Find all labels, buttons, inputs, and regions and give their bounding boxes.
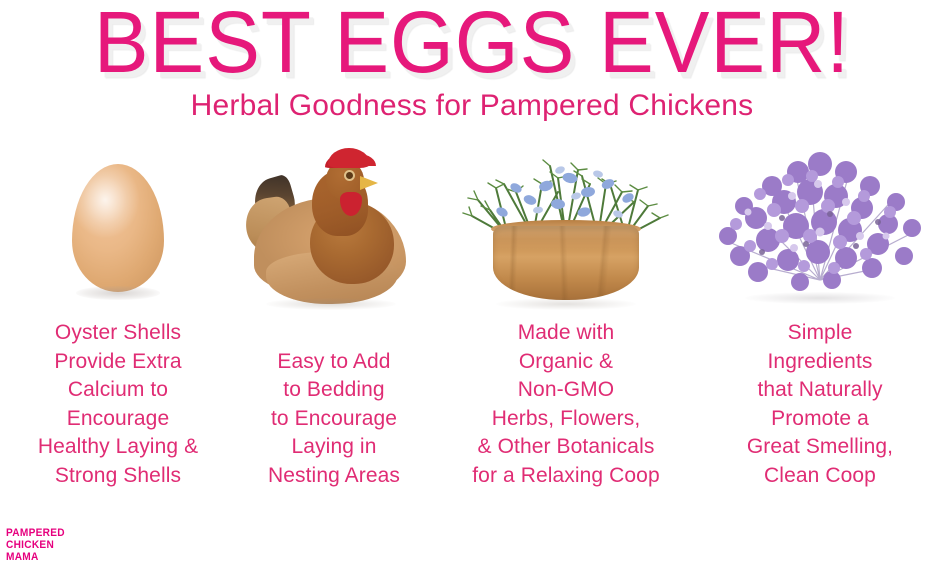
hen-beak-icon: [360, 176, 378, 190]
feature-caption-easy-to-add: Easy to Add to Bedding to Encourage Layi…: [236, 348, 432, 491]
caption-line: Nesting Areas: [236, 462, 432, 491]
caption-line: Organic &: [438, 348, 694, 377]
lavender-shadow: [745, 292, 895, 304]
herb-bowl-image: [438, 140, 694, 315]
wood-grain: [493, 226, 639, 300]
egg-shape-icon: [72, 164, 164, 292]
brand-logo-line-2: CHICKEN: [6, 539, 65, 551]
feature-column-oyster-shells: Oyster Shells Provide Extra Calcium to E…: [4, 140, 232, 530]
caption-line: Provide Extra: [4, 348, 232, 377]
caption-line: Herbs, Flowers,: [438, 405, 694, 434]
caption-line: to Bedding: [236, 376, 432, 405]
feature-caption-simple-ingredients: Simple Ingredients that Naturally Promot…: [700, 319, 940, 490]
hen-comb-icon: [328, 148, 370, 168]
caption-line: for a Relaxing Coop: [438, 462, 694, 491]
caption-line: Made with: [438, 319, 694, 348]
poster-canvas: BEST EGGS EVER! Herbal Goodness for Pamp…: [0, 0, 944, 571]
feature-caption-oyster-shells: Oyster Shells Provide Extra Calcium to E…: [4, 319, 232, 490]
caption-line: Promote a: [700, 405, 940, 434]
feature-column-easy-to-add: Easy to Add to Bedding to Encourage Layi…: [236, 140, 432, 530]
caption-line: Great Smelling,: [700, 433, 940, 462]
brand-logo-line-3: MAMA: [6, 551, 65, 563]
caption-line: Healthy Laying &: [4, 433, 232, 462]
hen-shadow: [266, 298, 396, 310]
page-title: BEST EGGS EVER!: [0, 0, 944, 89]
caption-line: Clean Coop: [700, 462, 940, 491]
caption-line: Oyster Shells: [4, 319, 232, 348]
caption-line: & Other Botanicals: [438, 433, 694, 462]
lavender-bunch-icon: [700, 140, 940, 300]
wooden-bowl-icon: [493, 226, 639, 300]
feature-column-simple-ingredients: Simple Ingredients that Naturally Promot…: [700, 140, 940, 530]
brand-logo-line-1: PAMPERED: [6, 527, 65, 539]
caption-line: that Naturally: [700, 376, 940, 405]
caption-line: Ingredients: [700, 348, 940, 377]
hen-eye-icon: [346, 172, 353, 179]
caption-line: Simple: [700, 319, 940, 348]
caption-line: Non-GMO: [438, 376, 694, 405]
egg-shadow: [76, 286, 160, 300]
brand-logo: PAMPERED CHICKEN MAMA: [6, 527, 65, 563]
feature-caption-organic-herbs: Made with Organic & Non-GMO Herbs, Flowe…: [438, 319, 694, 490]
bowl-shadow: [496, 298, 636, 310]
caption-line: Laying in: [236, 433, 432, 462]
caption-line: Encourage: [4, 405, 232, 434]
feature-column-organic-herbs: Made with Organic & Non-GMO Herbs, Flowe…: [438, 140, 694, 530]
page-subtitle: Herbal Goodness for Pampered Chickens: [0, 88, 944, 124]
chicken-image: [236, 140, 432, 315]
caption-line: Easy to Add: [236, 348, 432, 377]
caption-line: to Encourage: [236, 405, 432, 434]
caption-line: Strong Shells: [4, 462, 232, 491]
egg-image: [4, 140, 232, 315]
lavender-image: [700, 140, 940, 315]
caption-line: Calcium to: [4, 376, 232, 405]
